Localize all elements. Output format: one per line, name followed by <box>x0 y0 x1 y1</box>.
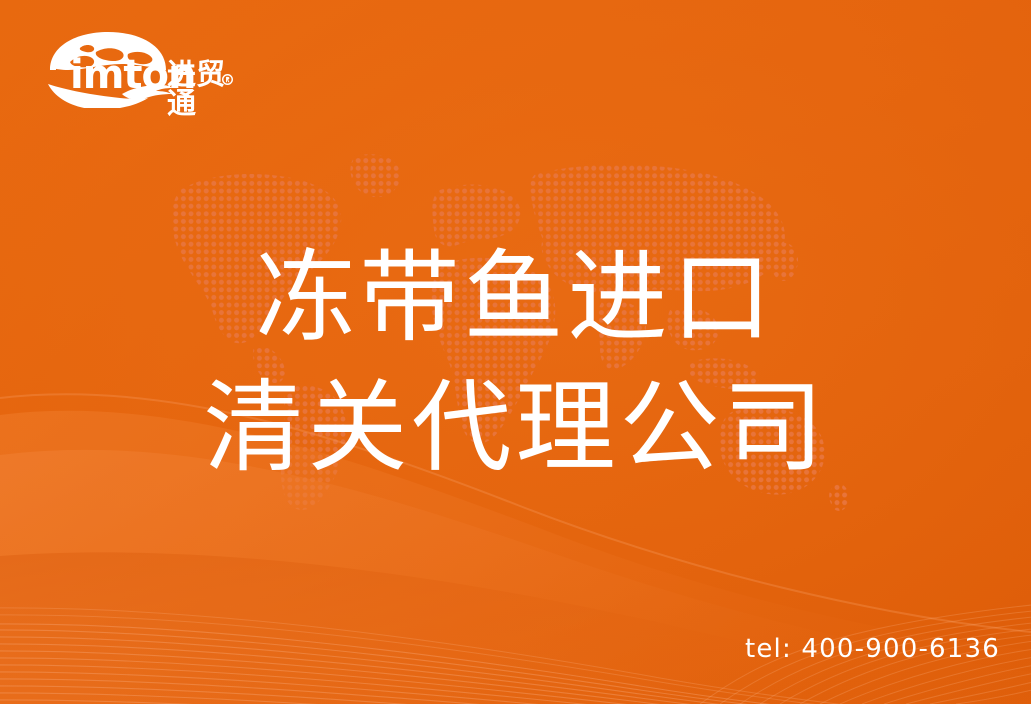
page-title: 冻带鱼进口 清关代理公司 <box>0 233 1031 493</box>
logo-chinese-name: 进贸通 <box>167 60 246 118</box>
headline-line-2: 清关代理公司 <box>0 363 1031 493</box>
headline-line-1: 冻带鱼进口 <box>0 233 1031 363</box>
brand-logo[interactable]: imton 进贸通 <box>36 28 246 108</box>
contact-phone[interactable]: tel: 400-900-6136 <box>745 634 1000 664</box>
registered-trademark-icon <box>222 74 233 85</box>
promo-banner: imton 进贸通 冻带鱼进口 清关代理公司 tel: 400-900-6136 <box>0 0 1031 704</box>
